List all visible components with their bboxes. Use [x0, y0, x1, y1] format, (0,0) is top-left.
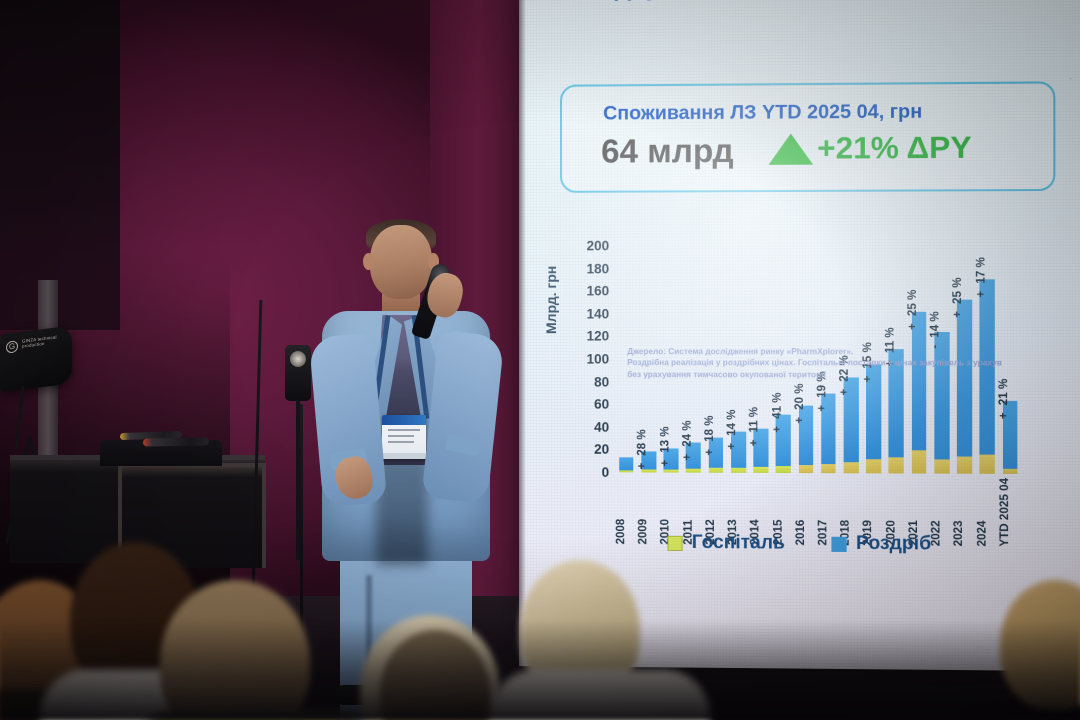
bar-stack: +14 %	[731, 431, 746, 473]
y-axis-tick: 40	[594, 419, 609, 434]
bar-segment-hospital	[731, 468, 746, 473]
bar-segment-hospital	[641, 470, 656, 473]
light-brand-logo-icon: G	[6, 340, 18, 353]
bar-segment-retail	[619, 458, 634, 471]
bar-stack: +21 %	[1002, 401, 1017, 474]
bar-stack: +25 %	[957, 300, 972, 474]
bar-stack: +41 %	[776, 415, 791, 473]
bar-growth-label: +25 %	[907, 289, 919, 329]
bar-growth-label: +13 %	[659, 427, 671, 467]
speaker-head	[370, 225, 432, 299]
bar-stack: +18 %	[708, 438, 723, 473]
bar-segment-hospital	[889, 457, 904, 473]
bar-stack: +28 %	[641, 452, 656, 473]
audience-shadow-overlay	[0, 620, 1080, 720]
bar-stack: +11 %	[753, 429, 768, 473]
bar-stack: +19 %	[821, 393, 836, 473]
speaker-conference-badge	[382, 415, 426, 459]
bar-segment-hospital	[664, 469, 679, 472]
bar-segment-hospital	[980, 454, 995, 474]
bar-growth-label: +41 %	[771, 393, 783, 433]
kpi-value: 64 млрд	[601, 132, 734, 171]
y-axis-tick: 140	[587, 306, 610, 321]
bar-growth-label: +25 %	[952, 278, 964, 318]
badge-header-bar	[382, 415, 426, 425]
spare-microphone-icon	[143, 437, 209, 446]
bar-segment-retail	[912, 311, 927, 450]
light-brand-text: GINZA technical production	[22, 333, 66, 349]
badge-text-line	[388, 435, 414, 437]
bar-segment-hospital	[708, 468, 723, 473]
footnote-line-3: без урахування тимчасово окупованої тери…	[627, 369, 1080, 381]
bar-segment-hospital	[934, 460, 949, 474]
bar-segment-hospital	[798, 465, 813, 473]
bar-segment-hospital	[753, 467, 768, 473]
bar-segment-hospital	[866, 460, 881, 474]
y-axis-tick: 0	[602, 465, 610, 480]
bar-growth-label: +21 %	[998, 378, 1010, 418]
bar-growth-label: +20 %	[794, 384, 806, 424]
kpi-delta: +21% ΔPY	[769, 130, 972, 167]
bar-stack: +13 %	[664, 449, 679, 473]
bar-stack: +20 %	[798, 406, 813, 473]
bar-segment-hospital	[912, 451, 927, 474]
y-axis-tick: 120	[587, 329, 610, 344]
kpi-label: Споживання ЛЗ YTD 2025 04, грн	[603, 100, 922, 125]
kpi-callout-box: Споживання ЛЗ YTD 2025 04, грн 64 млрд +…	[560, 81, 1055, 192]
badge-footer-bar	[382, 453, 426, 459]
slide-title: підсумками YTD 2025 04 у грошо	[519, 0, 1080, 4]
stage-light-icon: G GINZA technical production	[0, 326, 72, 393]
bar-growth-label: +18 %	[704, 415, 716, 455]
bar-stack	[619, 458, 634, 473]
triangle-up-icon	[769, 133, 814, 164]
footnote-line-1: Джерело: Система дослідження ринку «Phar…	[627, 346, 1080, 358]
y-axis-tick: 20	[594, 442, 609, 457]
y-axis-tick: 80	[594, 374, 609, 389]
speaker-ear-left	[363, 253, 374, 270]
bar-segment-hospital	[1002, 469, 1017, 474]
badge-text-line	[388, 429, 420, 431]
bar-segment-hospital	[821, 464, 836, 473]
badge-text-line	[388, 441, 414, 443]
slide-title-line2: підсумками YTD 2025 04 у грошо	[519, 0, 1080, 4]
bar-growth-label: +28 %	[637, 429, 649, 469]
conference-photo-scene: G GINZA technical production	[0, 0, 1080, 720]
y-axis-tick: 200	[587, 238, 610, 253]
y-axis-tick: 180	[587, 261, 610, 276]
y-axis-title: Млрд. грн	[543, 266, 559, 334]
bar-stack: +22 %	[844, 378, 859, 474]
bar-segment-hospital	[844, 462, 859, 473]
bar-segment-hospital	[957, 457, 972, 474]
bar-growth-label: +24 %	[681, 420, 693, 460]
y-axis-tick: 100	[587, 352, 610, 367]
footnote-line-2: Роздрібна реалізація у роздрібних цінах.…	[627, 357, 1080, 369]
bar-stack: +24 %	[686, 443, 701, 473]
bar-segment-hospital	[619, 470, 634, 472]
bar-stack: +25 %	[912, 311, 927, 473]
bar-growth-label: +14 %	[726, 409, 738, 449]
y-axis-ticks: 020406080100120140160180200	[565, 246, 609, 473]
bar-segment-hospital	[686, 469, 701, 473]
bar-growth-label: +11 %	[749, 407, 761, 447]
bar-segment-hospital	[776, 466, 791, 473]
y-axis-tick: 60	[594, 397, 609, 412]
y-axis-tick: 160	[587, 284, 610, 299]
kpi-delta-text: +21% ΔPY	[817, 130, 971, 167]
bar-growth-label: -14 %	[929, 311, 941, 348]
slide-footnote: Джерело: Система дослідження ринку «Phar…	[627, 346, 1080, 381]
bar-growth-label: +17 %	[975, 257, 987, 297]
